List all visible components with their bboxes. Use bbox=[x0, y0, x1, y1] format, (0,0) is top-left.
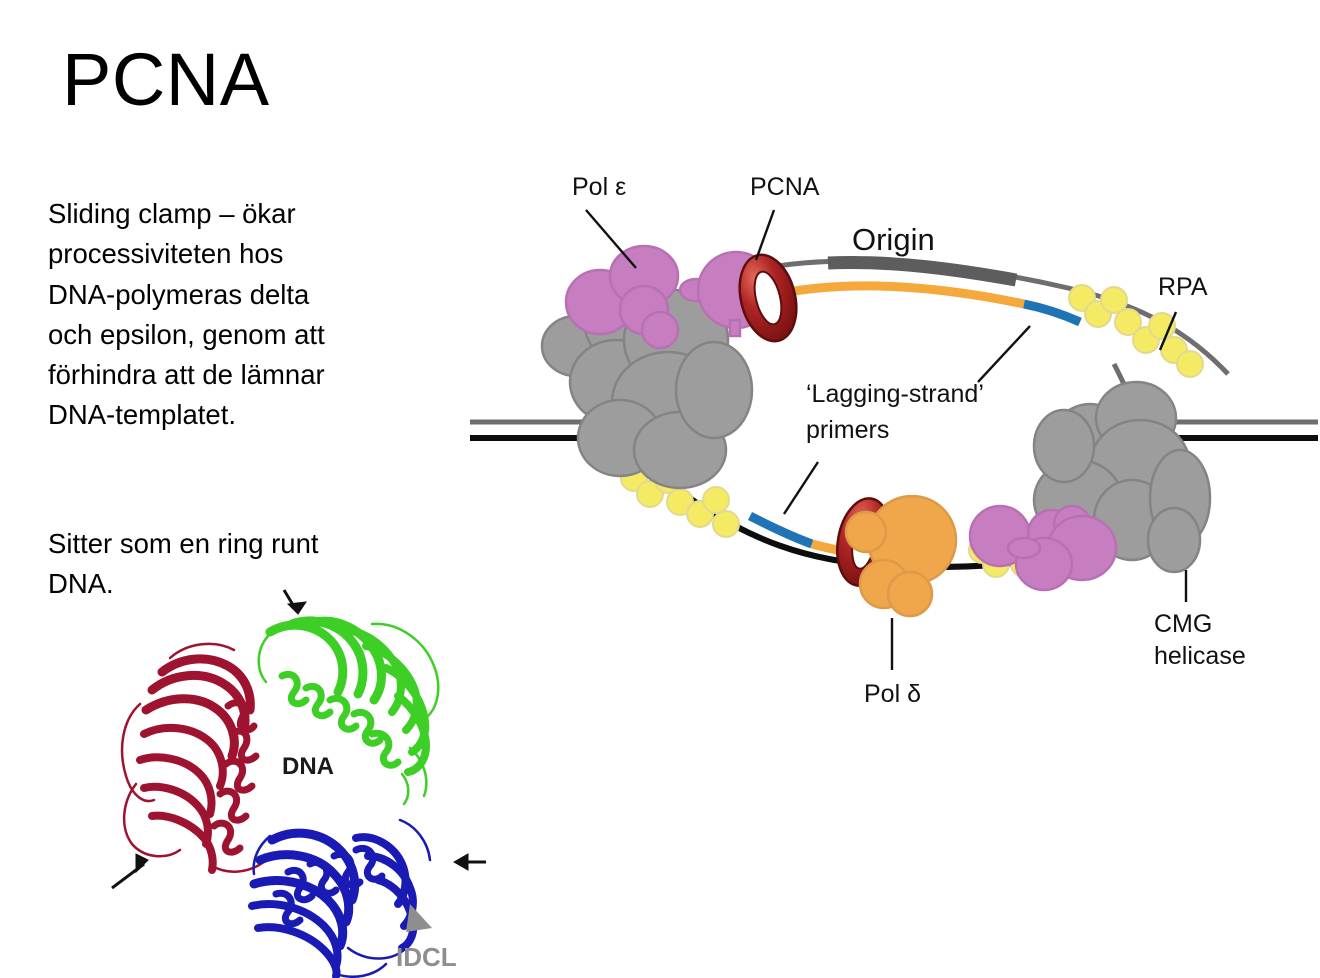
label-origin: Origin bbox=[852, 222, 935, 257]
pcna-subunit-red bbox=[122, 644, 266, 872]
label-lagging-primers-line2: primers bbox=[806, 416, 889, 444]
label-cmg-group: CMG helicase bbox=[1154, 570, 1246, 670]
annotation-arrow-left bbox=[112, 854, 148, 888]
label-cmg-line1: CMG bbox=[1154, 610, 1212, 638]
leader-pol-epsilon bbox=[586, 210, 636, 268]
label-rpa-group: RPA bbox=[1158, 273, 1208, 350]
leader-primers-bottom bbox=[784, 462, 818, 514]
idcl-label: IDCL bbox=[396, 942, 457, 972]
origin-segment bbox=[828, 262, 1016, 280]
label-pol-delta-group: Pol δ bbox=[864, 618, 921, 708]
page-title: PCNA bbox=[62, 42, 270, 117]
slide-canvas: PCNA Sliding clamp – ökar processivitete… bbox=[0, 0, 1320, 978]
annotation-arrow-right bbox=[454, 854, 486, 870]
label-lagging-primers-line1: ‘Lagging-strand’ bbox=[806, 380, 984, 408]
annotation-arrows bbox=[112, 590, 486, 888]
label-lagging-primers-group: ‘Lagging-strand’ primers bbox=[784, 326, 1030, 514]
label-rpa: RPA bbox=[1158, 273, 1208, 301]
leader-primers-top bbox=[978, 326, 1030, 382]
label-cmg-line2: helicase bbox=[1154, 642, 1246, 670]
body-paragraph-1: Sliding clamp – ökar processiviteten hos… bbox=[48, 194, 348, 436]
idcl-annotation: IDCL bbox=[396, 904, 457, 972]
label-pol-epsilon: Pol ε bbox=[572, 173, 626, 201]
pcna-center-dna-label: DNA bbox=[282, 753, 334, 780]
label-pol-delta: Pol δ bbox=[864, 680, 921, 708]
replication-fork-diagram: Pol ε PCNA Origin RPA ‘Lagging-strand’ p… bbox=[468, 150, 1320, 710]
pcna-trimer-structure-image: DNA bbox=[110, 588, 500, 978]
pol-epsilon-right bbox=[970, 506, 1116, 590]
label-pcna-group: PCNA bbox=[750, 173, 820, 260]
leader-pcna bbox=[756, 210, 774, 260]
annotation-arrow-top bbox=[284, 590, 306, 614]
label-pcna: PCNA bbox=[750, 173, 820, 201]
